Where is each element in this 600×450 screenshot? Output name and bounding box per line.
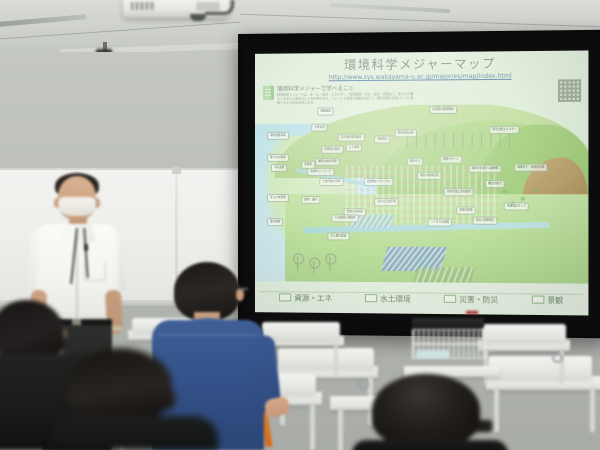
chair-back xyxy=(488,356,592,378)
map-label[interactable]: 堤防・護岸 xyxy=(301,196,320,204)
map-label[interactable]: 地域防災マップ xyxy=(504,202,529,210)
legend-item[interactable]: 景観 xyxy=(532,294,563,306)
shirt-fold xyxy=(158,334,256,336)
legend-label: 資源・エネ xyxy=(294,292,332,303)
map-label[interactable]: 地すべり xyxy=(407,158,424,166)
student-shirt xyxy=(50,416,218,450)
map-windmill-icon xyxy=(313,260,314,274)
crate-label xyxy=(466,311,478,314)
map-farm-field xyxy=(413,267,475,284)
map-label[interactable]: 下水処理と再利用 xyxy=(331,214,358,222)
chair-back xyxy=(278,348,374,368)
map-label[interactable]: 太陽光発電 xyxy=(456,206,476,214)
illustrated-map: 地盤環境水資源の循環利用土砂災害海岸侵食対策再生可能エネルギー沿岸域の環境保全津… xyxy=(255,104,588,284)
map-label[interactable]: 洋上風力発電 xyxy=(327,232,349,240)
map-label[interactable]: 景観デザイン xyxy=(440,156,462,164)
projection-screen: 環境科学メジャーマップ http://www.sys.wakayama-u.ac… xyxy=(238,30,600,339)
map-label[interactable]: 棚田の保全 xyxy=(485,180,505,188)
student-hair xyxy=(68,348,172,422)
legend-item[interactable]: 資源・エネ xyxy=(279,292,332,304)
stacked-crates xyxy=(412,327,484,369)
map-label[interactable]: 都市の緑地計画 xyxy=(417,172,442,180)
map-label[interactable]: 交通ネットワーク xyxy=(307,168,334,176)
map-label[interactable]: 水資源の循環利用 xyxy=(429,106,457,114)
map-label[interactable]: 橋梁の維持管理 xyxy=(315,158,339,166)
map-label[interactable]: 廃棄物のリサイクル xyxy=(364,178,394,186)
student-dark-right xyxy=(356,374,498,450)
slide-legend: 資源・エネ水土環境災害・防災景観 xyxy=(255,286,588,311)
whiteboard-divider-cap xyxy=(172,167,181,174)
legend-item[interactable]: 水土環境 xyxy=(365,293,411,305)
map-label[interactable]: 海岸侵食対策 xyxy=(267,132,289,140)
map-label[interactable]: 河川改修 xyxy=(271,164,287,172)
legend-checkbox-icon[interactable] xyxy=(532,295,545,303)
legend-checkbox-icon[interactable] xyxy=(365,294,377,302)
map-label[interactable]: 土砂災害 xyxy=(311,124,328,132)
crate-cloth xyxy=(416,350,450,359)
student-shirt xyxy=(352,440,508,450)
legend-checkbox-icon[interactable] xyxy=(279,293,291,301)
qr-code-icon xyxy=(558,79,581,102)
map-windmill-icon xyxy=(329,257,330,271)
map-windmill-icon xyxy=(297,256,298,270)
microphone-icon xyxy=(84,244,88,251)
desk-leg xyxy=(334,345,338,377)
map-label[interactable]: 風力発電 xyxy=(267,218,283,226)
map-label[interactable]: 地盤環境 xyxy=(317,107,334,115)
chair-hook xyxy=(552,352,563,363)
info-body: 環境科学メジャーでは、水・土・環境・エネルギー、資源循環、防災・減災、景観など、… xyxy=(277,92,415,105)
map-label[interactable]: 再生可能エネルギー xyxy=(489,126,519,134)
legend-label: 災害・防災 xyxy=(459,293,498,305)
map-label[interactable]: 上下水道 xyxy=(346,144,363,152)
desk-leg xyxy=(590,388,595,432)
chair-back xyxy=(482,324,566,342)
map-turbine-row xyxy=(407,133,510,148)
desk xyxy=(486,376,600,390)
map-label[interactable]: 土壌汚染の浄化 xyxy=(319,178,343,186)
slide-info-box: 環境科学メジャーで学べること 環境科学メジャーでは、水・土・環境・エネルギー、資… xyxy=(263,84,415,105)
projector-cable xyxy=(205,0,234,15)
slide-url[interactable]: http://www.sys.wakayama-u.ac.jp/major/es… xyxy=(255,72,588,82)
student-hair xyxy=(0,300,64,362)
document-icon xyxy=(263,86,274,100)
map-label[interactable]: 雨水排水計画 xyxy=(395,129,417,137)
presenter-face-mask xyxy=(58,197,96,216)
map-label[interactable]: 地下水の利用 xyxy=(267,154,289,162)
desk-leg xyxy=(310,404,315,450)
map-label[interactable]: ダムの水管理 xyxy=(267,194,289,202)
slide-content: 環境科学メジャーマップ http://www.sys.wakayama-u.ac… xyxy=(255,50,588,315)
map-label[interactable]: 地盤沈下・液状化対策 xyxy=(514,164,547,172)
map-label[interactable]: バイオマス発電 xyxy=(427,219,452,227)
map-label[interactable]: 河川の氾濫予測 xyxy=(374,198,399,206)
legend-item[interactable]: 災害・防災 xyxy=(444,293,498,305)
projector-ports-icon xyxy=(131,2,155,10)
legend-label: 水土環境 xyxy=(380,293,411,304)
legend-checkbox-icon[interactable] xyxy=(444,295,456,303)
glasses-icon xyxy=(238,288,248,290)
map-label[interactable]: 津波防災 xyxy=(374,135,391,143)
map-label[interactable]: 沿岸域の環境保全 xyxy=(338,134,365,142)
legend-label: 景観 xyxy=(547,294,563,305)
classroom-scene: 環境科学メジャーマップ http://www.sys.wakayama-u.ac… xyxy=(0,0,600,450)
slide-title: 環境科学メジャーマップ xyxy=(255,54,588,74)
student-dark-center xyxy=(58,348,208,450)
map-label[interactable]: 水環境の保全 xyxy=(321,146,343,154)
map-label[interactable]: 里山の景観保全 xyxy=(473,217,498,225)
student-hair xyxy=(372,374,480,446)
desk-leg xyxy=(338,409,343,450)
map-label[interactable]: 森林の水源かん養機能 xyxy=(469,165,502,173)
crate-lid xyxy=(412,318,484,328)
map-label[interactable]: 水質汚濁と浄化処理 xyxy=(444,188,474,196)
